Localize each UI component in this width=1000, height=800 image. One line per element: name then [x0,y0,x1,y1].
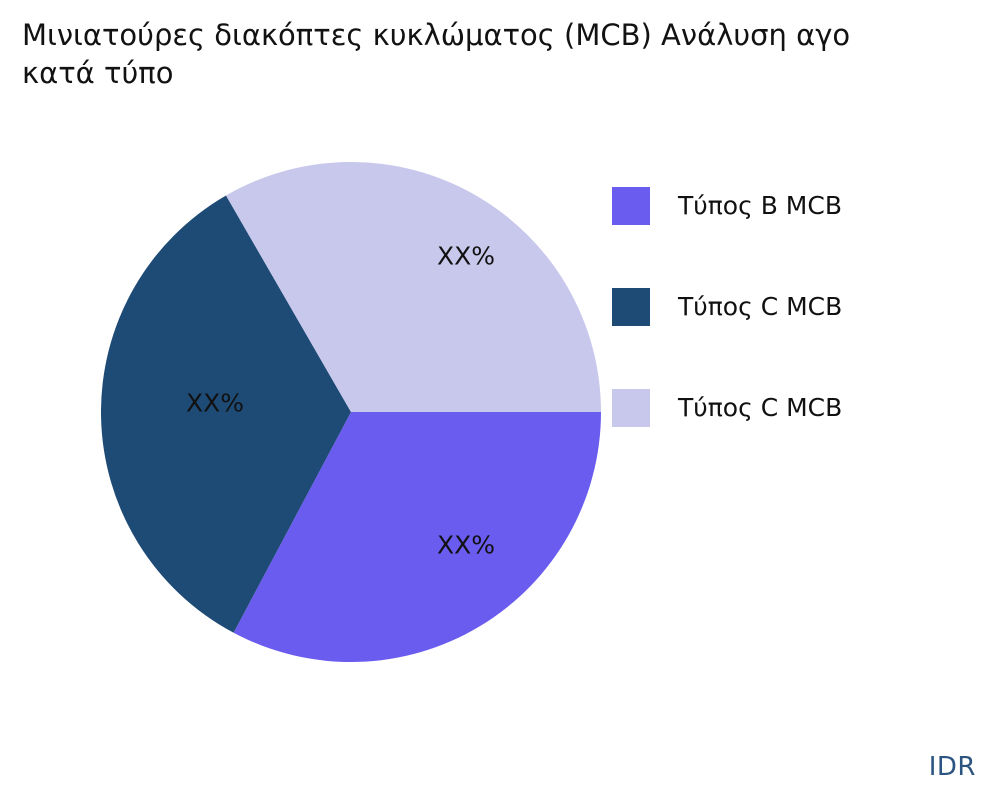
pie-chart-svg [101,162,601,662]
page-title: Μινιατούρες διακόπτες κυκλώματος (MCB) Α… [22,16,1000,92]
legend-item-label: Τύπος C MCB [678,294,842,319]
legend-swatch-icon [612,288,650,326]
legend-item-label: Τύπος B MCB [678,193,842,218]
legend-item-typos-c-mcb-navy[interactable]: Τύπος C MCB [612,256,992,357]
chart-canvas: Μινιατούρες διακόπτες κυκλώματος (MCB) Α… [0,0,1000,800]
legend-item-label: Τύπος C MCB [678,395,842,420]
legend-item-typos-b-mcb[interactable]: Τύπος B MCB [612,155,992,256]
legend-swatch-icon [612,187,650,225]
legend-item-typos-c-mcb-lavender[interactable]: Τύπος C MCB [612,357,992,458]
legend-swatch-icon [612,389,650,427]
chart-legend: Τύπος B MCB Τύπος C MCB Τύπος C MCB [612,155,992,458]
pie-chart: XX% XX% XX% [101,162,601,662]
idr-watermark: IDR [929,752,976,782]
